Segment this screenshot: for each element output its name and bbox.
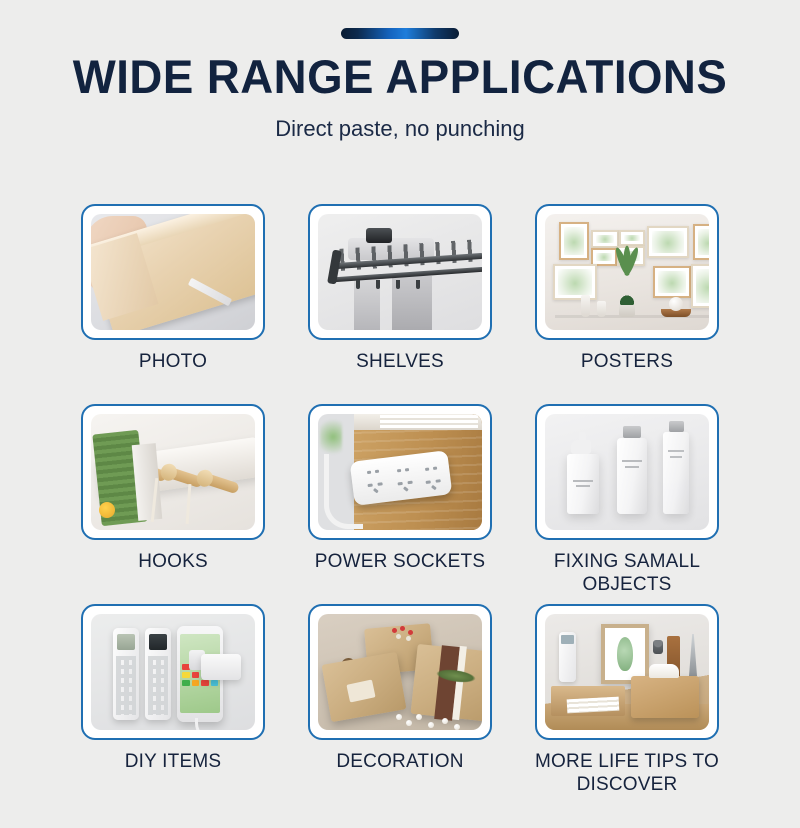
card-caption: POSTERS: [535, 350, 719, 373]
photo-power-strip: [318, 414, 482, 530]
card-caption: DIY ITEMS: [81, 750, 265, 773]
card-caption: FIXING SAMALL OBJECTS: [535, 550, 719, 596]
image-card: [535, 604, 719, 740]
accent-bar: [341, 28, 459, 39]
card-caption: MORE LIFE TIPS TO DISCOVER: [535, 750, 719, 796]
photo-gallery-wall: [545, 214, 709, 330]
infographic-page: WIDE RANGE APPLICATIONS Direct paste, no…: [0, 28, 800, 828]
card-caption: POWER SOCKETS: [308, 550, 492, 573]
grid-item-shelves: SHELVES: [308, 204, 492, 404]
image-card: [308, 404, 492, 540]
image-card: [81, 204, 265, 340]
image-card: [308, 204, 492, 340]
application-grid: PHOTO SHELVES: [0, 204, 800, 804]
photo-towel-rack: [318, 214, 482, 330]
grid-item-more-life-tips: MORE LIFE TIPS TO DISCOVER: [535, 604, 719, 804]
page-title: WIDE RANGE APPLICATIONS: [12, 53, 788, 100]
photo-gift-boxes: [318, 614, 482, 730]
photo-wooden-hooks: [91, 414, 255, 530]
grid-item-fixing-small-objects: FIXING SAMALL OBJECTS: [535, 404, 719, 604]
page-subtitle: Direct paste, no punching: [0, 116, 800, 142]
grid-item-posters: POSTERS: [535, 204, 719, 404]
photo-cosmetic-bottles: [545, 414, 709, 530]
card-caption: HOOKS: [81, 550, 265, 573]
image-card: [308, 604, 492, 740]
card-caption: SHELVES: [308, 350, 492, 373]
image-card: [535, 404, 719, 540]
photo-diy-wall-mounted-devices: [91, 614, 255, 730]
grid-item-photo: PHOTO: [81, 204, 265, 404]
image-card: [535, 204, 719, 340]
card-caption: PHOTO: [81, 350, 265, 373]
image-card: [81, 404, 265, 540]
grid-item-power-sockets: POWER SOCKETS: [308, 404, 492, 604]
grid-item-decoration: DECORATION: [308, 604, 492, 804]
image-card: [81, 604, 265, 740]
photo-desk-scene: [545, 614, 709, 730]
grid-item-hooks: HOOKS: [81, 404, 265, 604]
grid-item-diy-items: DIY ITEMS: [81, 604, 265, 804]
photo-hand-holding-frame: [91, 214, 255, 330]
card-caption: DECORATION: [308, 750, 492, 773]
